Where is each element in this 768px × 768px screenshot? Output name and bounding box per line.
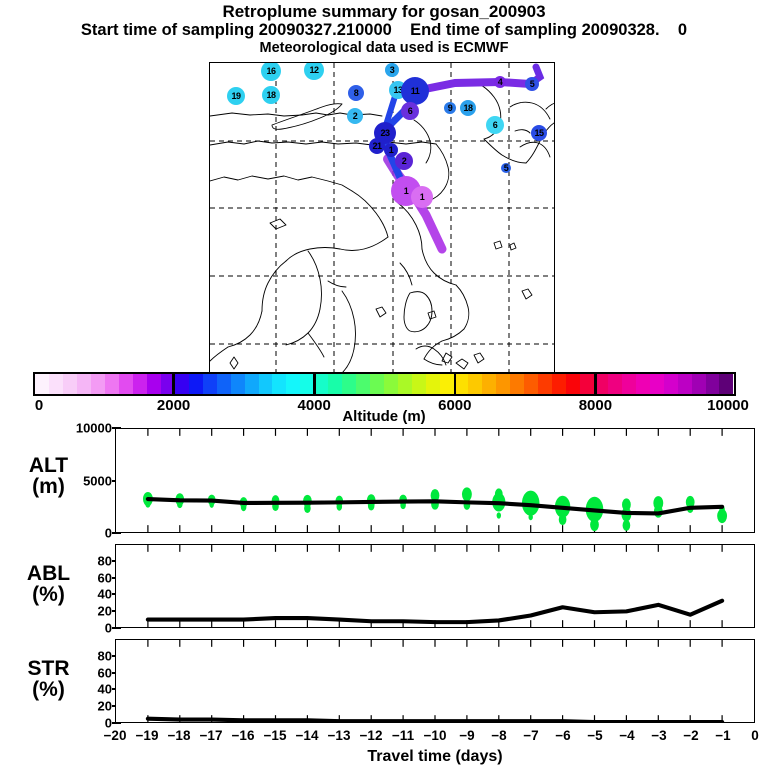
x-axis-tick-label: −9 bbox=[459, 728, 474, 743]
colorbar-segment bbox=[63, 374, 77, 394]
colorbar-segment bbox=[245, 374, 259, 394]
colorbar-segment bbox=[147, 374, 161, 394]
y-tick-label: 40 bbox=[54, 682, 112, 697]
map-cluster-label: 18 bbox=[266, 91, 275, 100]
map-cluster-label: 23 bbox=[380, 129, 389, 138]
colorbar[interactable]: 0200040006000800010000 bbox=[33, 372, 736, 396]
alt-scatter-points bbox=[143, 487, 727, 531]
alt-plot-panel[interactable] bbox=[115, 428, 755, 533]
x-axis-tick-label: −7 bbox=[523, 728, 538, 743]
map-cluster-marker: 5 bbox=[525, 77, 539, 91]
alt-scatter-point bbox=[623, 520, 631, 531]
y-tick-label: 60 bbox=[54, 570, 112, 585]
colorbar-segment bbox=[692, 374, 706, 394]
map-cluster-marker: 19 bbox=[227, 87, 245, 105]
x-axis-tick-label: −5 bbox=[587, 728, 602, 743]
map-cluster-marker: 8 bbox=[348, 85, 364, 101]
colorbar-segment bbox=[189, 374, 203, 394]
colorbar-segment bbox=[482, 374, 496, 394]
colorbar-segment bbox=[678, 374, 692, 394]
map-cluster-label: 9 bbox=[448, 104, 453, 113]
colorbar-segment bbox=[77, 374, 91, 394]
alt-scatter-point bbox=[590, 519, 599, 532]
map-cluster-marker: 11 bbox=[401, 77, 429, 105]
map-cluster-label: 5 bbox=[530, 80, 535, 89]
alt-scatter-point bbox=[304, 504, 311, 513]
x-axis-tick-label: −16 bbox=[232, 728, 255, 743]
x-axis-tick-label: −11 bbox=[392, 728, 414, 743]
x-axis-tick-label: −1 bbox=[715, 728, 730, 743]
colorbar-segment bbox=[706, 374, 720, 394]
sampling-time-line: Start time of sampling 20090327.210000 E… bbox=[0, 22, 768, 39]
y-tick-label: 40 bbox=[54, 587, 112, 602]
colorbar-segment bbox=[259, 374, 273, 394]
y-tick-label: 20 bbox=[54, 604, 112, 619]
colorbar-gradient bbox=[33, 372, 736, 396]
y-tick-label: 5000 bbox=[54, 473, 112, 488]
map-cluster-label: 12 bbox=[309, 66, 318, 75]
colorbar-segment bbox=[217, 374, 231, 394]
colorbar-segment bbox=[384, 374, 398, 394]
colorbar-segment bbox=[608, 374, 622, 394]
map-cluster-label: 16 bbox=[266, 67, 275, 76]
map-cluster-marker: 1 bbox=[411, 186, 433, 208]
map-cluster-label: 1 bbox=[420, 193, 425, 202]
x-axis-tick-label: −4 bbox=[619, 728, 634, 743]
colorbar-segment bbox=[314, 374, 328, 394]
colorbar-segment bbox=[650, 374, 664, 394]
map-cluster-label: 19 bbox=[231, 92, 240, 101]
page-title: Retroplume summary for gosan_200903 bbox=[0, 3, 768, 20]
header: Retroplume summary for gosan_200903 Star… bbox=[0, 0, 768, 56]
colorbar-divider bbox=[313, 372, 316, 396]
y-tick-label: 0 bbox=[54, 526, 112, 541]
abl-plot-panel[interactable] bbox=[115, 544, 755, 628]
colorbar-segment bbox=[580, 374, 594, 394]
x-axis-tick-label: −13 bbox=[328, 728, 351, 743]
x-axis-title: Travel time (days) bbox=[115, 748, 755, 766]
colorbar-segment bbox=[231, 374, 245, 394]
colorbar-segment bbox=[622, 374, 636, 394]
x-axis-tick-label: −6 bbox=[555, 728, 570, 743]
alt-plot-canvas bbox=[116, 429, 754, 532]
colorbar-title: Altitude (m) bbox=[0, 408, 768, 425]
x-axis-tick-label: −14 bbox=[296, 728, 319, 743]
colorbar-segment bbox=[510, 374, 524, 394]
map-cluster-marker: 9 bbox=[444, 102, 456, 114]
y-tick-label: 80 bbox=[54, 553, 112, 568]
str-series-line bbox=[148, 719, 722, 722]
x-axis-tick-label: −2 bbox=[683, 728, 698, 743]
x-axis-tick-label: −18 bbox=[168, 728, 191, 743]
map-cluster-label: 3 bbox=[390, 66, 395, 75]
colorbar-divider bbox=[454, 372, 457, 396]
colorbar-segment bbox=[440, 374, 454, 394]
colorbar-segment bbox=[35, 374, 49, 394]
x-axis-tick-label: −8 bbox=[491, 728, 506, 743]
y-tick-label: 20 bbox=[54, 699, 112, 714]
colorbar-segment bbox=[119, 374, 133, 394]
abl-series-line bbox=[148, 601, 722, 622]
map-cluster-label: 2 bbox=[353, 112, 358, 121]
y-tick-label: 60 bbox=[54, 665, 112, 680]
str-x-tickmarks bbox=[148, 640, 722, 722]
map-cluster-marker: 16 bbox=[261, 62, 281, 81]
colorbar-segment bbox=[636, 374, 650, 394]
colorbar-segment bbox=[356, 374, 370, 394]
alt-scatter-point bbox=[717, 509, 727, 523]
map-cluster-label: 11 bbox=[411, 87, 420, 96]
abl-plot-canvas bbox=[116, 545, 754, 627]
map-cluster-label: 18 bbox=[463, 104, 472, 113]
colorbar-segment bbox=[272, 374, 286, 394]
y-tick-label: 0 bbox=[54, 621, 112, 636]
colorbar-segment bbox=[91, 374, 105, 394]
map-cluster-label: 6 bbox=[408, 107, 413, 116]
colorbar-segment bbox=[664, 374, 678, 394]
map-cluster-marker: 3 bbox=[385, 63, 399, 77]
colorbar-segment bbox=[105, 374, 119, 394]
colorbar-segment bbox=[342, 374, 356, 394]
x-axis-tick-label: −12 bbox=[360, 728, 383, 743]
colorbar-segment bbox=[426, 374, 440, 394]
alt-x-tickmarks bbox=[148, 429, 722, 532]
map-cluster-marker: 5 bbox=[501, 163, 511, 173]
map-cluster-marker: 6 bbox=[401, 102, 419, 120]
colorbar-segment bbox=[203, 374, 217, 394]
colorbar-divider bbox=[172, 372, 175, 396]
x-axis-tick-label: −17 bbox=[200, 728, 223, 743]
colorbar-segment bbox=[454, 374, 468, 394]
colorbar-segment bbox=[538, 374, 552, 394]
alt-scatter-point bbox=[529, 514, 533, 520]
colorbar-segment bbox=[370, 374, 384, 394]
colorbar-segment bbox=[552, 374, 566, 394]
colorbar-segment bbox=[524, 374, 538, 394]
y-tick-label: 80 bbox=[54, 648, 112, 663]
str-plot-panel[interactable] bbox=[115, 639, 755, 723]
colorbar-segment bbox=[412, 374, 426, 394]
map-cluster-label: 1 bbox=[389, 146, 394, 155]
colorbar-segment bbox=[398, 374, 412, 394]
alt-scatter-point bbox=[462, 487, 472, 501]
y-tick-label: 10000 bbox=[54, 421, 112, 436]
colorbar-divider bbox=[594, 372, 597, 396]
map-cluster-marker: 4 bbox=[494, 76, 506, 88]
x-axis-tick-label: 0 bbox=[751, 728, 759, 743]
abl-x-tickmarks bbox=[148, 545, 722, 627]
str-y-ticks: 020406080 bbox=[52, 639, 112, 723]
map-cluster-label: 21 bbox=[372, 142, 381, 151]
map-cluster-marker: 2 bbox=[347, 108, 363, 124]
colorbar-segment bbox=[328, 374, 342, 394]
alt-scatter-point bbox=[497, 512, 501, 518]
colorbar-segment bbox=[175, 374, 189, 394]
map-cluster-marker: 18 bbox=[262, 86, 280, 104]
alt-scatter-point bbox=[559, 514, 567, 525]
map-cluster-label: 6 bbox=[493, 121, 498, 130]
map-cluster-label: 2 bbox=[402, 157, 407, 166]
x-axis-tick-label: −10 bbox=[424, 728, 447, 743]
colorbar-segment bbox=[286, 374, 300, 394]
colorbar-segment bbox=[719, 374, 733, 394]
colorbar-segment bbox=[566, 374, 580, 394]
map-cluster-label: 5 bbox=[504, 164, 509, 173]
abl-y-ticks: 020406080 bbox=[52, 544, 112, 628]
map-cluster-label: 15 bbox=[534, 129, 543, 138]
map-cluster-marker: 6 bbox=[486, 116, 504, 134]
map-cluster-label: 4 bbox=[498, 78, 503, 87]
x-axis-tick-label: −3 bbox=[651, 728, 666, 743]
colorbar-segment bbox=[468, 374, 482, 394]
map-cluster-label: 1 bbox=[404, 187, 409, 196]
map-canvas bbox=[210, 63, 555, 373]
map-cluster-marker: 18 bbox=[460, 100, 476, 116]
colorbar-segment bbox=[496, 374, 510, 394]
colorbar-segment bbox=[49, 374, 63, 394]
map-graticule bbox=[210, 63, 555, 373]
x-axis-tick-label: −19 bbox=[136, 728, 159, 743]
x-axis-tick-label: −20 bbox=[104, 728, 127, 743]
map-cluster-marker: 15 bbox=[531, 125, 547, 141]
x-axis-tick-label: −15 bbox=[264, 728, 287, 743]
map-cluster-marker: 2 bbox=[395, 152, 413, 170]
colorbar-segment bbox=[133, 374, 147, 394]
meteorology-line: Meteorological data used is ECMWF bbox=[0, 41, 768, 56]
alt-y-ticks: 0500010000 bbox=[52, 428, 112, 533]
map-cluster-marker: 21 bbox=[369, 138, 385, 154]
map-panel[interactable]: 161231918813114526918615232112511 bbox=[209, 62, 555, 373]
map-cluster-label: 8 bbox=[354, 89, 359, 98]
str-plot-canvas bbox=[116, 640, 754, 722]
